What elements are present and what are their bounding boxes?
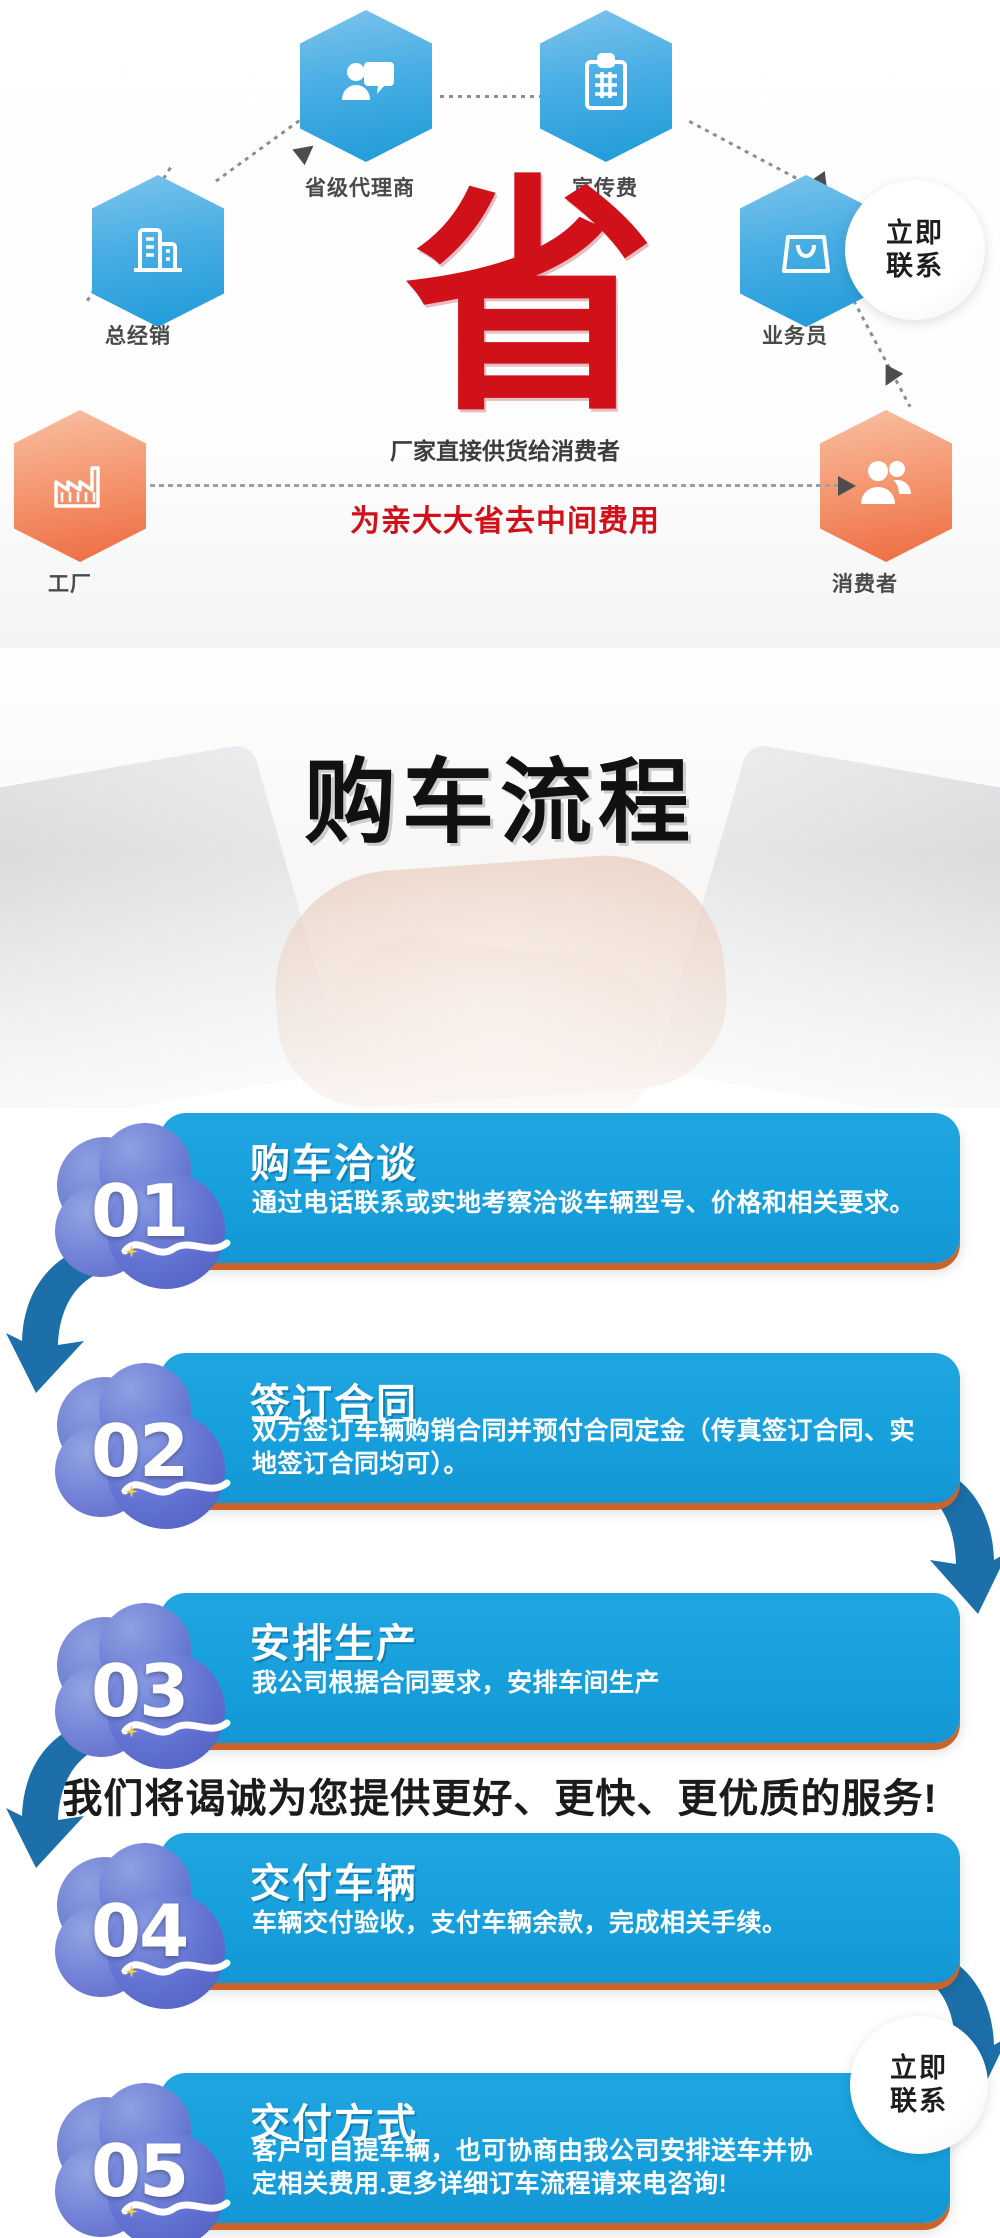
step-badge: 05 <box>55 2079 255 2231</box>
step-card[interactable]: 交付方式 客户可自提车辆，也可协商由我公司安排送车并协定相关费用.更多详细订车流… <box>160 2073 950 2223</box>
step-description: 车辆交付验收，支付车辆余款，完成相关手续。 <box>252 1907 934 1940</box>
node-label-consumer: 消费者 <box>832 568 898 598</box>
step-card[interactable]: 购车洽谈 通过电话联系或实地考察洽谈车辆型号、价格和相关要求。 <box>160 1113 960 1263</box>
node-label-general-distributor: 总经销 <box>105 320 171 350</box>
step-card[interactable]: 安排生产 我公司根据合同要求，安排车间生产 <box>160 1593 960 1743</box>
node-factory[interactable] <box>14 410 146 562</box>
direct-supply-slogan: 为亲大大省去中间费用 <box>300 496 710 540</box>
step-description: 客户可自提车辆，也可协商由我公司安排送车并协定相关费用.更多详细订车流程请来电咨… <box>252 2135 830 2200</box>
contact-badge-bottom[interactable]: 立即 联系 <box>850 2016 988 2154</box>
step-card[interactable]: 签订合同 双方签订车辆购销合同并预付合同定金（传真签订合同、实地签订合同均可）。 <box>160 1353 960 1503</box>
squiggle-icon <box>121 1951 231 1985</box>
arrowhead-agent <box>292 138 319 165</box>
shopping-bag-icon <box>774 217 838 286</box>
handshake-background-image <box>0 648 1000 1108</box>
squiggle-icon <box>121 2191 231 2225</box>
direct-supply-arrowhead <box>838 476 856 496</box>
step-title: 交付车辆 <box>250 1851 418 1909</box>
step-description: 通过电话联系或实地考察洽谈车辆型号、价格和相关要求。 <box>252 1187 934 1220</box>
node-general-distributor[interactable] <box>92 175 224 327</box>
squiggle-icon <box>121 1471 231 1505</box>
contact-badge-line2: 联系 <box>886 250 944 283</box>
node-label-provincial-agent: 省级代理商 <box>305 172 415 202</box>
node-label-salesperson: 业务员 <box>762 320 828 350</box>
flow-step[interactable]: 安排生产 我公司根据合同要求，安排车间生产 03 <box>0 1593 1000 1753</box>
flow-step[interactable]: 购车洽谈 通过电话联系或实地考察洽谈车辆型号、价格和相关要求。 01 <box>0 1113 1000 1273</box>
purchase-flow-section: 购车流程 GOU CHE LIU CHENG 我们将谒诚为您提供更好、更快、更优… <box>0 648 1000 2238</box>
contact-badge-line2: 联系 <box>890 2085 948 2118</box>
direct-supply-caption: 厂家直接供货给消费者 <box>330 432 680 466</box>
big-save-character: 省 <box>405 175 635 445</box>
step-badge: 02 <box>55 1359 255 1511</box>
step-card[interactable]: 交付车辆 车辆交付验收，支付车辆余款，完成相关手续。 <box>160 1833 960 1983</box>
factory-icon <box>48 452 112 521</box>
contact-badge-top[interactable]: 立即 联系 <box>845 180 985 320</box>
step-description: 双方签订车辆购销合同并预付合同定金（传真签订合同、实地签订合同均可）。 <box>252 1415 934 1480</box>
contact-badge-line1: 立即 <box>886 217 944 250</box>
flow-step[interactable]: 签订合同 双方签订车辆购销合同并预付合同定金（传真签订合同、实地签订合同均可）。… <box>0 1353 1000 1513</box>
node-promotion-fee[interactable] <box>540 10 672 162</box>
image-overlay <box>0 648 1000 1108</box>
squiggle-icon <box>121 1231 231 1265</box>
page-title: 购车流程 <box>0 728 1000 861</box>
node-label-factory: 工厂 <box>48 568 92 598</box>
contact-badge-line1: 立即 <box>890 2052 948 2085</box>
step-description: 我公司根据合同要求，安排车间生产 <box>252 1667 934 1700</box>
direct-supply-line <box>150 484 840 487</box>
step-badge: 04 <box>55 1839 255 1991</box>
person-speech-icon <box>334 52 398 121</box>
squiggle-icon <box>121 1711 231 1745</box>
subtitle: 我们将谒诚为您提供更好、更快、更优质的服务! <box>0 1766 1000 1824</box>
people-icon <box>854 452 918 521</box>
step-badge: 01 <box>55 1119 255 1271</box>
office-building-icon <box>126 217 190 286</box>
flow-step[interactable]: 交付方式 客户可自提车辆，也可协商由我公司安排送车并协定相关费用.更多详细订车流… <box>0 2073 1000 2233</box>
step-title: 安排生产 <box>250 1611 418 1669</box>
connector-promotion-to-sales <box>689 120 814 188</box>
step-title: 购车洽谈 <box>250 1131 418 1189</box>
clipboard-approval-icon <box>574 52 638 121</box>
step-badge: 03 <box>55 1599 255 1751</box>
flow-step[interactable]: 交付车辆 车辆交付验收，支付车辆余款，完成相关手续。 04 <box>0 1833 1000 1993</box>
node-provincial-agent[interactable] <box>300 10 432 162</box>
distribution-diagram-section: 省级代理商 宣传费 总经销 <box>0 0 1000 648</box>
